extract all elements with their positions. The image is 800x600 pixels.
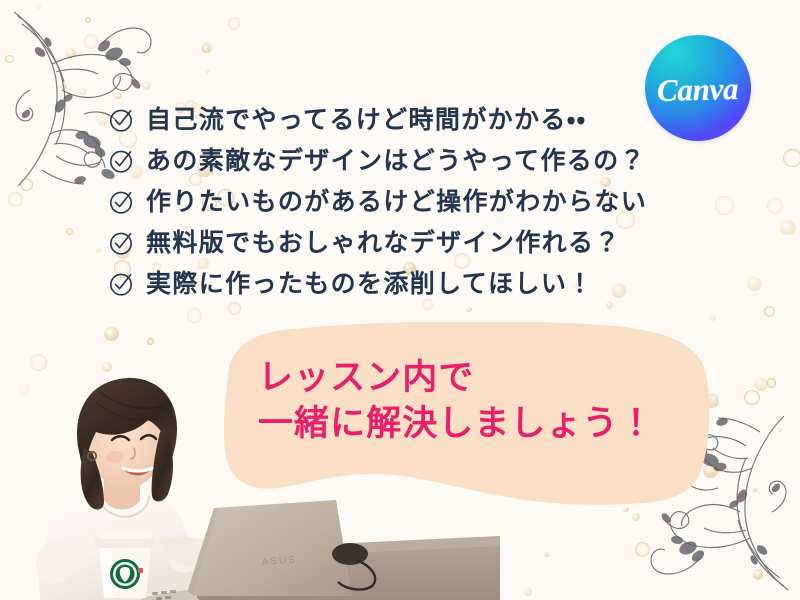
bokeh-dot	[715, 196, 734, 215]
bokeh-dot	[40, 148, 47, 155]
bokeh-dot	[635, 542, 650, 557]
bokeh-dot	[91, 156, 101, 166]
checklist-item: 実際に作ったものを添削してほしい！	[108, 264, 668, 305]
bokeh-dot	[96, 247, 101, 252]
callout-line-1: レッスン内で	[258, 355, 688, 401]
check-circle-icon	[108, 107, 134, 133]
bokeh-dot	[79, 88, 87, 96]
bokeh-dot	[754, 377, 768, 391]
canva-wordmark: Canva	[657, 72, 739, 105]
bokeh-dot	[466, 307, 471, 312]
check-circle-icon	[108, 271, 134, 297]
callout-line-2: 一緒に解決しましょう！	[258, 401, 688, 447]
bokeh-dot	[544, 552, 549, 557]
bokeh-dot	[142, 81, 151, 90]
bokeh-dot	[778, 428, 782, 432]
check-circle-icon	[108, 148, 134, 174]
bokeh-dot	[201, 44, 210, 53]
checklist-item-label: 実際に作ったものを添削してほしい！	[146, 272, 594, 297]
checklist-item: 無料版でもおしゃれなデザイン作れる？	[108, 223, 668, 264]
checklist-item: 作りたいものがあるけど操作がわからない	[108, 182, 668, 223]
checklist-item-label: 自己流でやってるけど時間がかかる・・	[146, 108, 587, 133]
check-circle-icon	[108, 189, 134, 215]
check-circle-icon	[108, 230, 134, 256]
promo-canvas: ASUS レッスン内で	[0, 0, 800, 600]
bokeh-dot	[780, 220, 795, 235]
checklist-item: 自己流でやってるけど時間がかかる・・	[108, 100, 668, 141]
bokeh-dot	[5, 55, 14, 64]
bokeh-dot	[228, 17, 240, 29]
bokeh-dot	[84, 34, 99, 49]
bokeh-dot	[66, 228, 73, 235]
bokeh-dot	[187, 308, 202, 323]
bokeh-dot	[8, 192, 24, 208]
benefits-checklist: 自己流でやってるけど時間がかかる・・ あの素敵なデザインはどうやって作るの？ 作…	[108, 100, 668, 305]
bokeh-dot	[764, 306, 775, 317]
callout-text: レッスン内で 一緒に解決しましょう！	[258, 355, 688, 447]
bokeh-dot	[85, 17, 91, 23]
bokeh-dot	[65, 48, 75, 58]
bokeh-dot	[747, 277, 762, 292]
bokeh-dot	[61, 83, 67, 89]
bokeh-dot	[744, 390, 759, 405]
bokeh-dot	[206, 70, 209, 73]
canva-logo[interactable]: Canva	[645, 35, 751, 141]
bokeh-dot	[37, 5, 41, 9]
bokeh-dot	[753, 569, 764, 580]
bokeh-dot	[753, 488, 757, 492]
checklist-item: あの素敵なデザインはどうやって作るの？	[108, 141, 668, 182]
bokeh-dot	[524, 588, 532, 596]
bokeh-dot	[202, 42, 213, 53]
bokeh-dot	[783, 149, 800, 168]
bokeh-dot	[632, 513, 641, 522]
bokeh-dot	[709, 314, 716, 321]
bokeh-dot	[114, 92, 121, 99]
bokeh-dot	[767, 378, 776, 387]
bokeh-dot	[767, 198, 783, 214]
checklist-item-label: 作りたいものがあるけど操作がわからない	[146, 190, 647, 215]
checklist-item-label: あの素敵なデザインはどうやって作るの？	[146, 149, 646, 174]
checklist-item-label: 無料版でもおしゃれなデザイン作れる？	[146, 231, 621, 256]
bokeh-dot	[20, 178, 34, 192]
